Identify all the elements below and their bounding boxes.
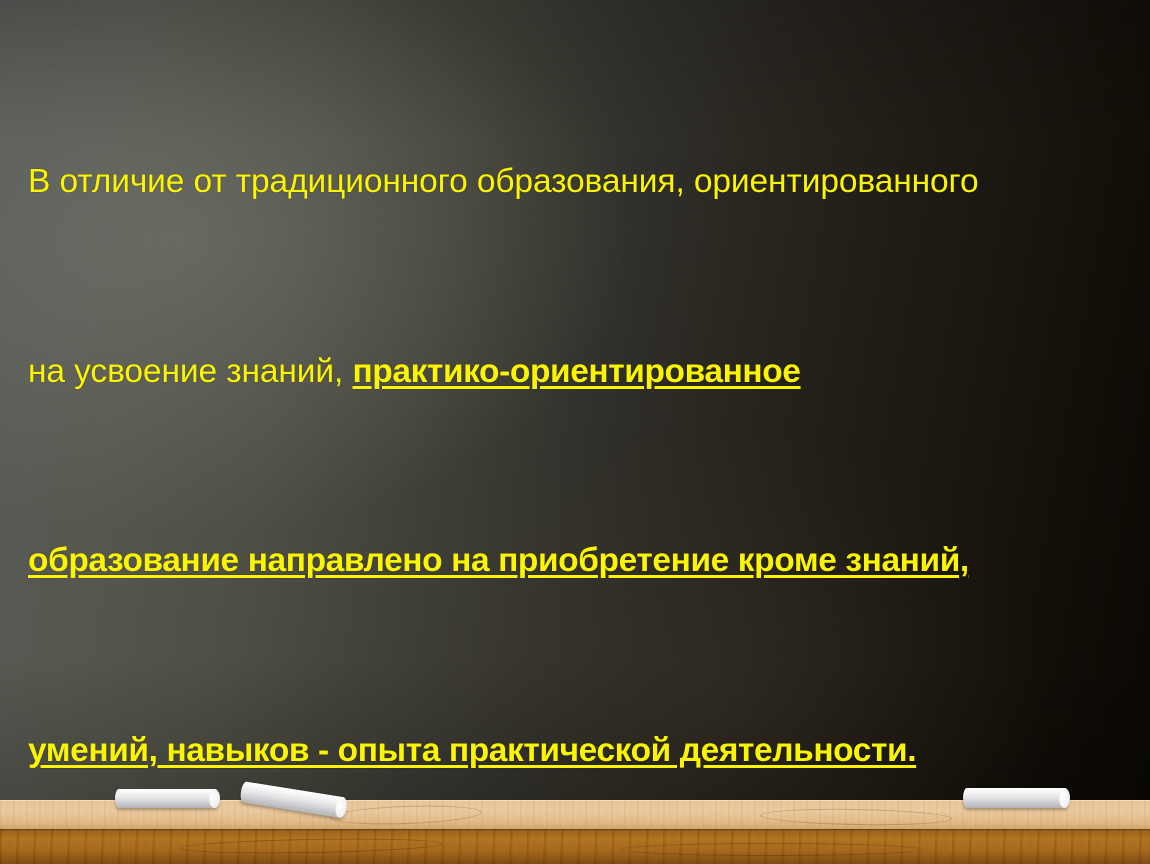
text-run-emphasis: умений, навыков - опыта практической дея…	[28, 732, 916, 769]
text-run-emphasis: практико-ориентированное	[352, 353, 800, 390]
chalk-ledge-front-face	[0, 829, 1150, 864]
wood-grain-mark	[330, 803, 483, 826]
wood-grain-mark	[180, 837, 442, 856]
text-line-1: В отличие от традиционного образования, …	[28, 158, 1124, 205]
slide-canvas: В отличие от традиционного образования, …	[0, 0, 1150, 864]
chalk-stick-left	[115, 789, 219, 808]
slide-body-text: В отличие от традиционного образования, …	[28, 16, 1124, 864]
text-line-2: на усвоение знаний, практико-ориентирова…	[28, 348, 1124, 395]
text-line-4: умений, навыков - опыта практической дея…	[28, 727, 1124, 774]
text-run: на усвоение знаний,	[28, 353, 352, 390]
wood-grain-mark	[620, 843, 922, 856]
chalk-stick-right	[963, 788, 1069, 808]
text-run: В отличие от традиционного образования, …	[28, 163, 978, 200]
wood-grain-mark	[760, 807, 952, 826]
text-line-3: образование направлено на приобретение к…	[28, 537, 1124, 584]
text-run-emphasis: образование направлено на приобретение к…	[28, 542, 969, 579]
